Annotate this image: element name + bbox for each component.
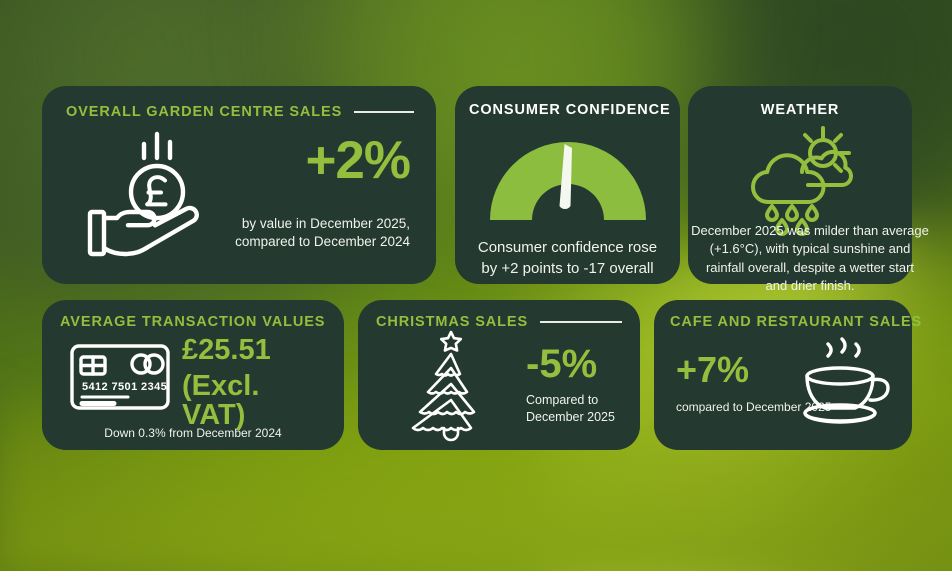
overall-stat-value: +2% [210, 134, 410, 187]
overall-stat-column: +2% by value in December 2025, compared … [210, 134, 410, 251]
overall-subtext: by value in December 2025, compared to D… [210, 215, 410, 251]
confidence-subtext: Consumer confidence rose by +2 points to… [469, 238, 666, 279]
weather-subtext-line-1: December 2025 was milder than average [688, 222, 932, 240]
card-christmas-sales: CHRISTMAS SALES [358, 300, 640, 450]
weather-subtext-line-3: rainfall overall, despite a wetter start [688, 259, 932, 277]
confidence-title: CONSUMER CONFIDENCE [469, 102, 666, 118]
credit-card-number: 5412 7501 2345 [82, 381, 167, 393]
weather-title: WEATHER [698, 102, 902, 118]
atv-stat-qualifier: (Excl. VAT) [182, 372, 326, 430]
christmas-subtext: Compared to December 2025 [526, 392, 615, 426]
atv-stat-column: £25.51 (Excl. VAT) [182, 336, 326, 430]
atv-title: AVERAGE TRANSACTION VALUES [60, 314, 326, 330]
weather-subtext: December 2025 was milder than average (+… [688, 222, 932, 296]
christmas-tree-icon [400, 328, 502, 436]
card-consumer-confidence: CONSUMER CONFIDENCE Consumer confidence … [455, 86, 680, 284]
overall-title-divider [354, 111, 414, 113]
coffee-cup-icon [790, 334, 896, 426]
christmas-stat-column: -5% Compared to December 2025 [526, 344, 615, 426]
christmas-stat-value: -5% [526, 344, 615, 384]
card-cafe-and-restaurant-sales: CAFE AND RESTAURANT SALES +7% compared t… [654, 300, 912, 450]
confidence-subtext-line-1: Consumer confidence rose [469, 238, 666, 259]
cafe-title: CAFE AND RESTAURANT SALES [670, 314, 896, 330]
card-overall-garden-centre-sales: OVERALL GARDEN CENTRE SALES [42, 86, 436, 284]
christmas-subtext-line-1: Compared to [526, 392, 615, 409]
overall-title-row: OVERALL GARDEN CENTRE SALES [66, 104, 414, 120]
infographic-canvas: OVERALL GARDEN CENTRE SALES [0, 0, 952, 571]
hand-holding-pound-coin-icon [82, 130, 214, 256]
christmas-subtext-line-2: December 2025 [526, 409, 615, 426]
overall-subtext-line-2: compared to December 2024 [210, 233, 410, 251]
sun-cloud-rain-icon [744, 126, 856, 218]
gauge-icon [480, 130, 656, 222]
card-average-transaction-values: AVERAGE TRANSACTION VALUES 5412 7501 234… [42, 300, 344, 450]
weather-subtext-line-4: and drier finish. [688, 277, 932, 295]
overall-subtext-line-1: by value in December 2025, [210, 215, 410, 233]
christmas-title-divider [540, 321, 622, 323]
confidence-subtext-line-2: by +2 points to -17 overall [469, 259, 666, 280]
weather-subtext-line-2: (+1.6°C), with typical sunshine and [688, 240, 932, 258]
card-weather: WEATHER [688, 86, 912, 284]
atv-stat-value: £25.51 [182, 336, 326, 365]
overall-title: OVERALL GARDEN CENTRE SALES [66, 104, 342, 120]
credit-card-icon: 5412 7501 2345 [70, 344, 170, 410]
atv-subtext: Down 0.3% from December 2024 [60, 426, 326, 442]
